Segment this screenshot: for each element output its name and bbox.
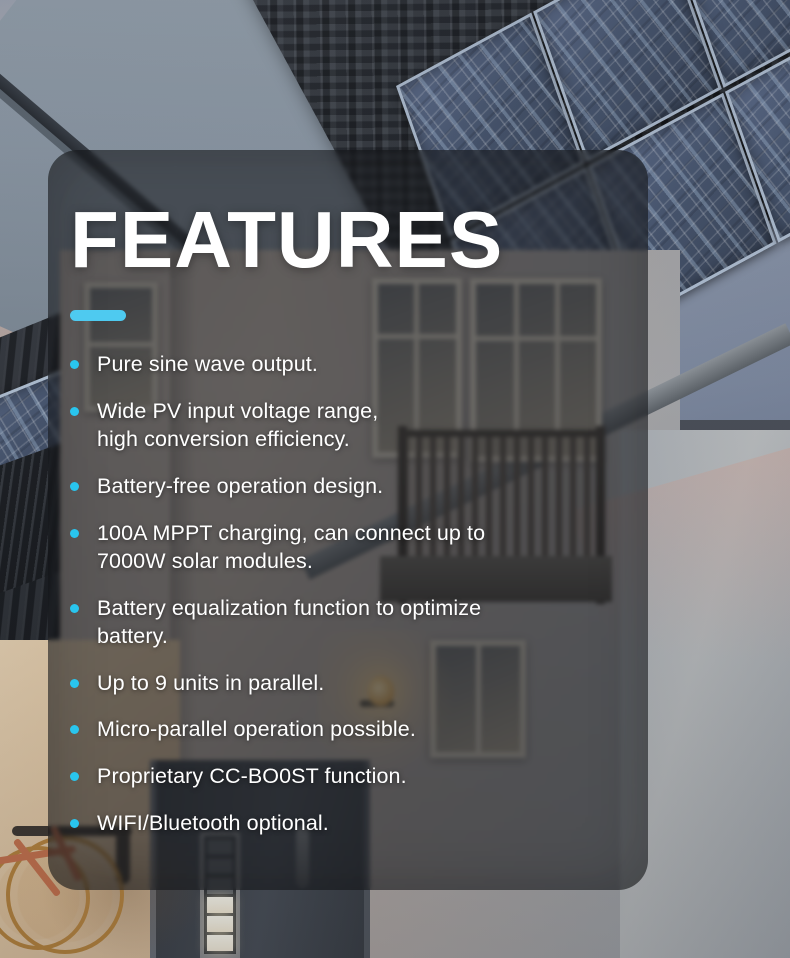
features-list: Pure sine wave output. Wide PV input vol… — [70, 351, 608, 838]
feature-banner: FEATURES Pure sine wave output. Wide PV … — [0, 0, 790, 958]
list-item: Wide PV input voltage range, high conver… — [70, 398, 608, 454]
door-glass-cell — [207, 935, 233, 951]
list-item: 100A MPPT charging, can connect up to 70… — [70, 520, 608, 576]
title-accent-bar — [70, 310, 126, 321]
list-item: Battery-free operation design. — [70, 473, 608, 501]
list-item: Micro-parallel operation possible. — [70, 716, 608, 744]
list-item: WIFI/Bluetooth optional. — [70, 810, 608, 838]
features-card: FEATURES Pure sine wave output. Wide PV … — [48, 150, 648, 890]
door-glass-cell — [207, 897, 233, 913]
page-title: FEATURES — [70, 202, 608, 278]
list-item: Battery equalization function to optimiz… — [70, 595, 608, 651]
door-glass-cell — [207, 916, 233, 932]
list-item: Up to 9 units in parallel. — [70, 670, 608, 698]
list-item: Pure sine wave output. — [70, 351, 608, 379]
list-item: Proprietary CC-BO0ST function. — [70, 763, 608, 791]
